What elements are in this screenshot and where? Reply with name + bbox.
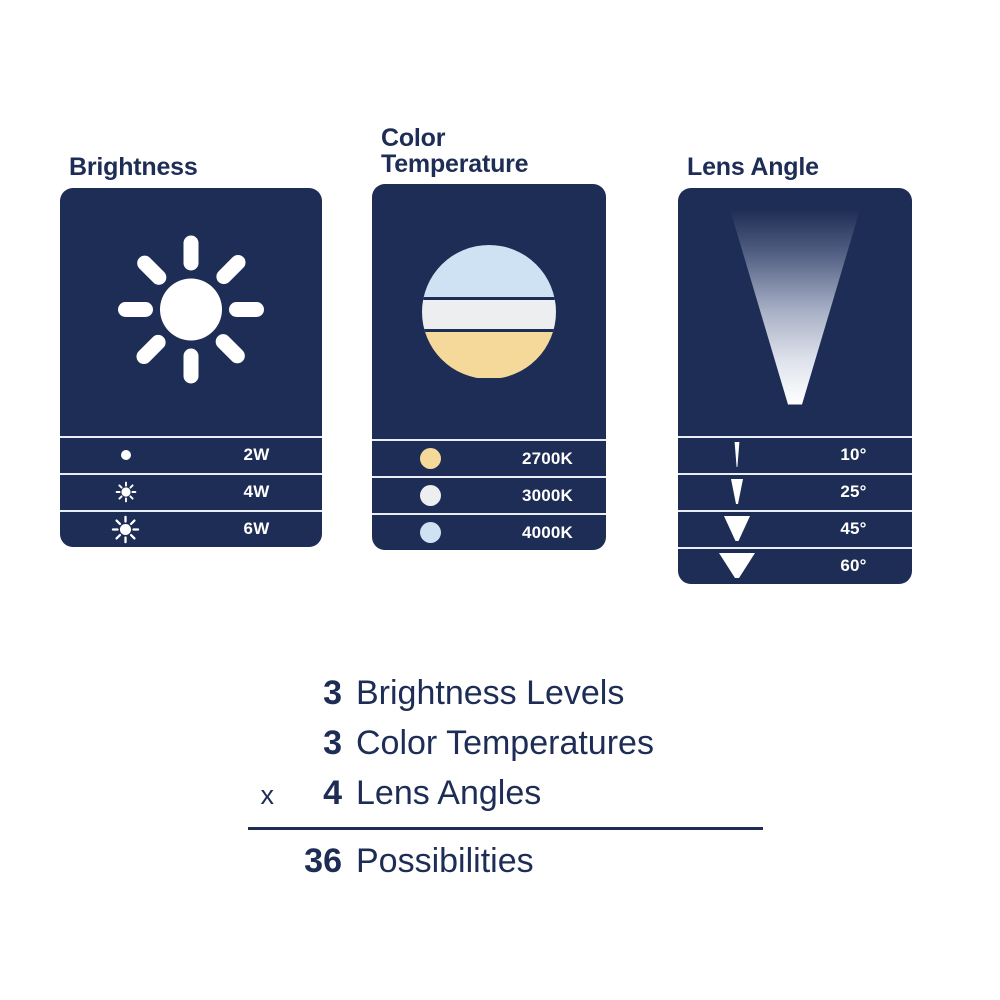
brightness-option-row[interactable]: 4W	[60, 473, 322, 510]
color-temperature-option-row[interactable]: 2700K	[372, 439, 606, 476]
small-sun-icon	[60, 475, 191, 510]
cool-dot-icon	[372, 515, 489, 550]
lens-angle-option-row[interactable]: 25°	[678, 473, 912, 510]
beam-25-icon	[678, 475, 795, 510]
summary-label: Color Temperatures	[356, 718, 654, 768]
brightness-card-art	[60, 188, 322, 436]
color-temperature-circle-icon	[422, 245, 556, 379]
summary-total-line: 36 Possibilities	[248, 836, 763, 886]
warm-dot-icon	[372, 441, 489, 476]
lens-angle-option-row[interactable]: 10°	[678, 436, 912, 473]
large-sun-icon	[60, 512, 191, 547]
beam-60-icon	[678, 549, 795, 584]
beam-45-icon	[678, 512, 795, 547]
summary-divider	[248, 827, 763, 830]
brightness-card: 2W	[60, 188, 322, 547]
lens-angle-card-art	[678, 188, 912, 436]
summary-count: 4	[280, 768, 356, 818]
color-temperature-card: 2700K 3000K 4000K	[372, 184, 606, 550]
lens-angle-card-title: Lens Angle	[687, 155, 912, 181]
summary-total-count: 36	[280, 836, 356, 886]
brightness-option-label: 2W	[191, 445, 322, 465]
summary-label: Lens Angles	[356, 768, 541, 818]
summary-line: x 4 Lens Angles	[248, 768, 763, 820]
color-temperature-options-list: 2700K 3000K 4000K	[372, 439, 606, 550]
brightness-option-row[interactable]: 2W	[60, 436, 322, 473]
color-temperature-option-label: 2700K	[489, 449, 606, 469]
brightness-option-row[interactable]: 6W	[60, 510, 322, 547]
summary-operator: x	[248, 770, 280, 820]
summary-label: Brightness Levels	[356, 668, 624, 718]
color-temperature-option-label: 3000K	[489, 486, 606, 506]
color-temperature-card-art	[372, 184, 606, 439]
beam-10-icon	[678, 438, 795, 473]
lens-angle-option-row[interactable]: 45°	[678, 510, 912, 547]
summary-total-label: Possibilities	[356, 836, 534, 886]
brightness-card-title: Brightness	[69, 155, 322, 181]
brightness-options-list: 2W	[60, 436, 322, 547]
summary-line: 3 Color Temperatures	[248, 718, 763, 768]
lens-angle-option-label: 25°	[795, 482, 912, 502]
brightness-option-label: 4W	[191, 482, 322, 502]
sun-icon	[116, 233, 266, 390]
color-temperature-card-block: Color Temperature 2700K	[372, 126, 606, 550]
lens-angle-option-label: 10°	[795, 445, 912, 465]
summary-count: 3	[280, 718, 356, 768]
color-temperature-option-label: 4000K	[489, 523, 606, 543]
lens-angle-option-label: 60°	[795, 556, 912, 576]
color-temperature-option-row[interactable]: 4000K	[372, 513, 606, 550]
lens-angle-option-label: 45°	[795, 519, 912, 539]
summary-equation: 3 Brightness Levels 3 Color Temperatures…	[248, 668, 763, 886]
color-temperature-card-title: Color Temperature	[381, 126, 606, 177]
infographic-canvas: Brightness	[0, 0, 1000, 1000]
lens-angle-card-block: Lens Angle	[678, 155, 912, 584]
lens-angle-options-list: 10° 25° 45°	[678, 436, 912, 584]
dot-icon	[60, 438, 191, 473]
neutral-dot-icon	[372, 478, 489, 513]
brightness-option-label: 6W	[191, 519, 322, 539]
lens-angle-option-row[interactable]: 60°	[678, 547, 912, 584]
light-beam-icon	[722, 209, 868, 414]
summary-line: 3 Brightness Levels	[248, 668, 763, 718]
lens-angle-card: 10° 25° 45°	[678, 188, 912, 584]
summary-count: 3	[280, 668, 356, 718]
color-temperature-option-row[interactable]: 3000K	[372, 476, 606, 513]
brightness-card-block: Brightness	[60, 155, 322, 547]
